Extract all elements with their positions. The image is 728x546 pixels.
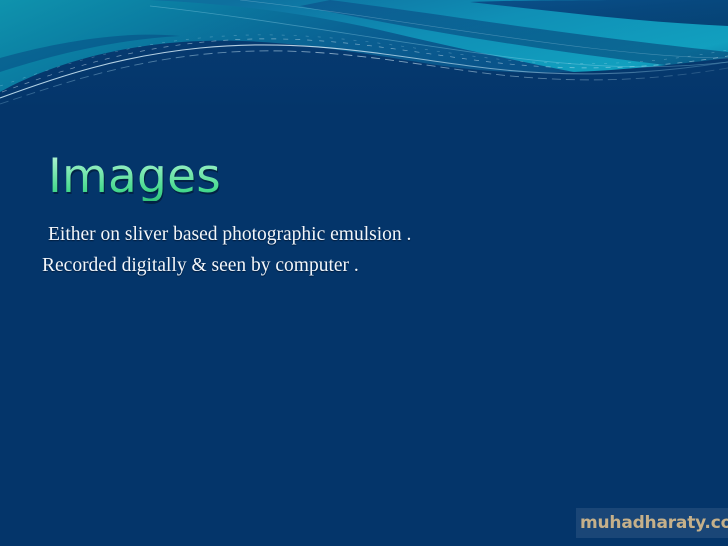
slide-body: Either on sliver based photographic emul… <box>40 219 680 281</box>
wave-ribbon-banner <box>0 0 728 110</box>
presentation-slide: Images Images Either on sliver based pho… <box>0 0 728 546</box>
body-line: Recorded digitally & seen by computer . <box>40 250 680 281</box>
watermark: muhadharaty.com <box>558 502 728 540</box>
watermark-text: muhadharaty.com <box>580 513 728 533</box>
slide-title: Images <box>48 152 221 201</box>
body-line: Either on sliver based photographic emul… <box>40 219 680 250</box>
